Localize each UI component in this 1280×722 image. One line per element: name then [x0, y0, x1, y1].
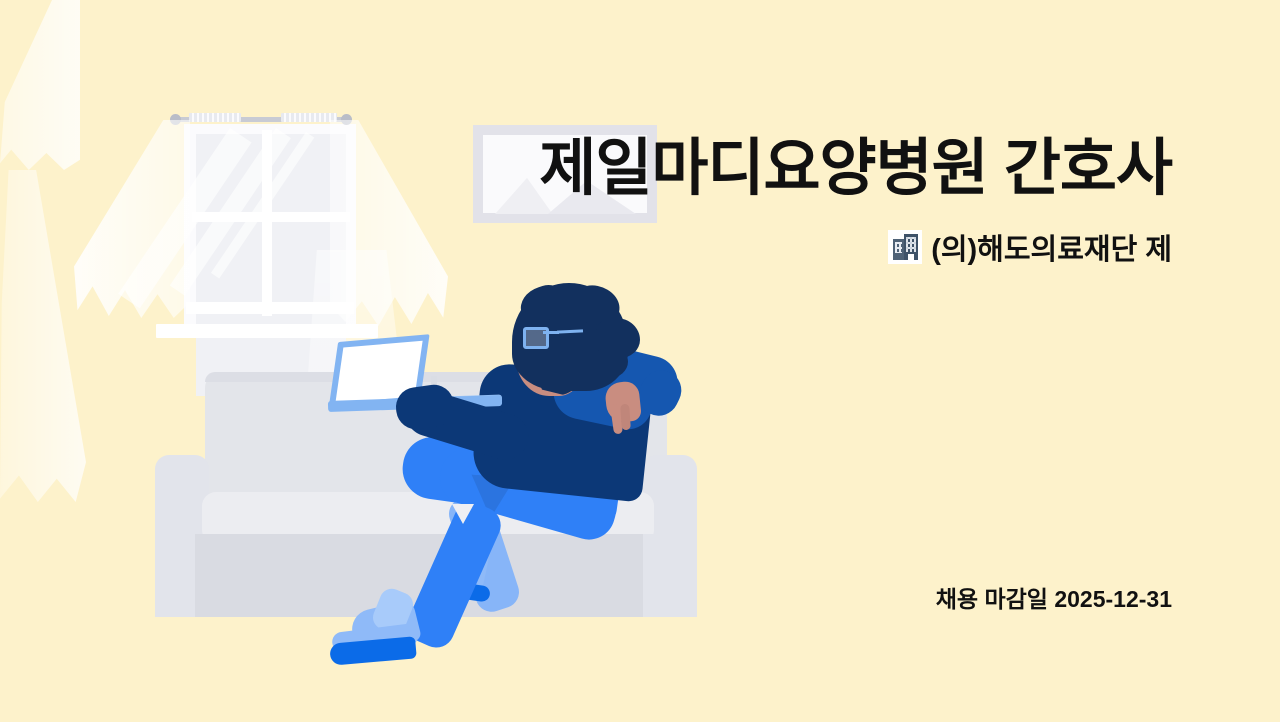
office-building-icon-windows-left [895, 242, 902, 253]
page-title: 제일마디요양병원 간호사 [0, 136, 1172, 203]
application-deadline: 채용 마감일 2025-12-31 [0, 580, 1172, 614]
company-name: (의)해도의료재단 제 [931, 226, 1172, 268]
office-building-icon-windows [906, 237, 916, 252]
office-building-icon-door [908, 254, 914, 260]
job-posting-card: 제일마디요양병원 간호사 (의)해도의료재단 제 채용 마감일 2025-12-… [0, 0, 1280, 722]
text-overlay: 제일마디요양병원 간호사 (의)해도의료재단 제 채용 마감일 2025-12-… [0, 0, 1280, 722]
company-row: (의)해도의료재단 제 [0, 226, 1172, 268]
office-building-icon [888, 230, 922, 264]
